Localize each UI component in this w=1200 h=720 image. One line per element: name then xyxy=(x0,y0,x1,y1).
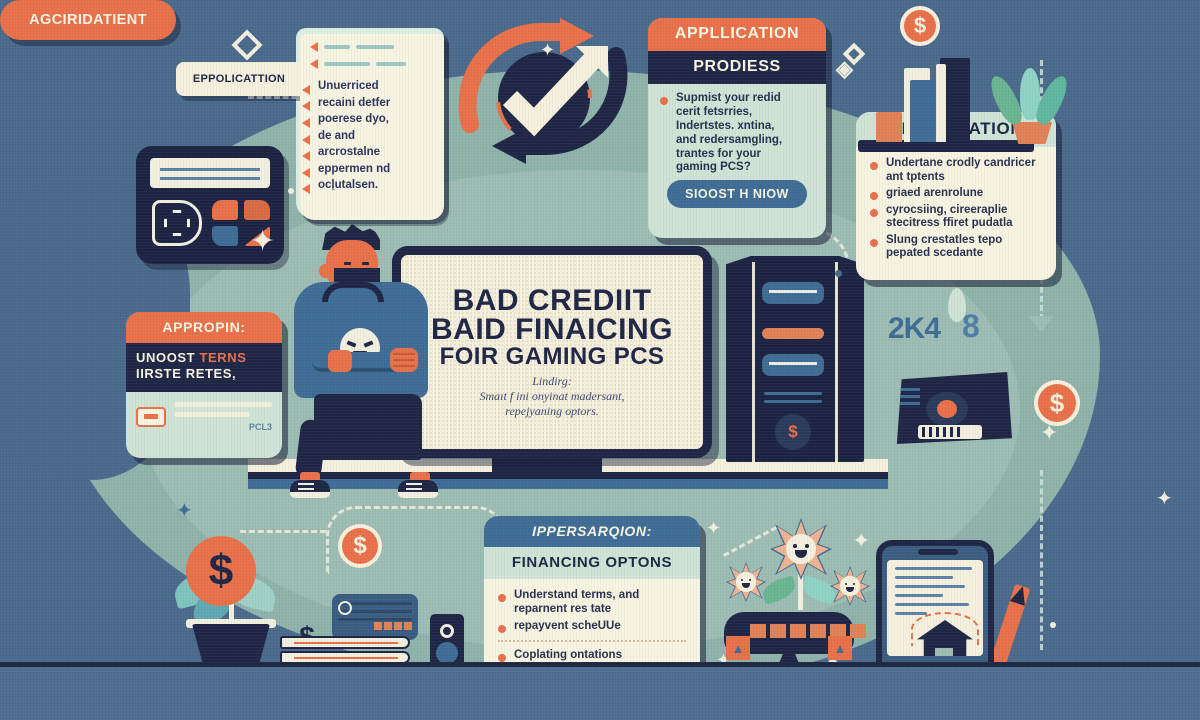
card-application-process-header-top: APPLLICATION xyxy=(648,18,826,51)
decor-glyph: ◈ xyxy=(836,56,853,82)
list-item: Unuerriced xyxy=(300,80,444,94)
pcl-label: PCL3 xyxy=(174,422,272,432)
psu-fan xyxy=(926,392,968,426)
person-legs xyxy=(314,394,422,460)
connector-line-5 xyxy=(1040,470,1043,650)
house-door xyxy=(935,648,953,656)
card-apperidation-bullets: Undertane crodly candricer ant tptents g… xyxy=(868,157,1044,261)
card-appropin-header: APPROPIN: xyxy=(126,312,282,343)
drive-bay xyxy=(762,282,824,304)
list-item: Coplating ontations xyxy=(496,649,688,663)
list-item-continuation: gaming PCS? xyxy=(658,161,816,174)
power-led-icon xyxy=(835,270,842,277)
flower-character-small-right xyxy=(830,566,870,606)
card-chip-icon xyxy=(136,407,166,427)
phone-screen xyxy=(887,560,983,656)
headline-line-1: BAD CREDIIT xyxy=(453,286,652,315)
tab-eppolication[interactable]: EPPOLICATTION xyxy=(176,62,302,96)
diamond-outline-icon xyxy=(231,29,262,60)
list-item: poerese dyo, xyxy=(300,113,444,127)
speaker-tweeter xyxy=(440,624,454,638)
appreciation-bar-chart xyxy=(876,40,1006,142)
tower-fan-dollar-icon: $ xyxy=(775,414,811,450)
boost-now-button[interactable]: SIOOST H NIOW xyxy=(667,180,807,208)
infographic-canvas: ✦ ✦ ✦ ✦ ✦ ✦ ✦ ✦ ✦ ◈ EPPOLICATTION Unuerr… xyxy=(0,0,1200,720)
list-item: repayvent scheUUe xyxy=(496,620,688,634)
bar-1 xyxy=(876,112,902,142)
headline-line-3: FOIR GAMING PCS xyxy=(440,345,665,370)
card-detail-lines: PCL3 xyxy=(174,402,272,432)
sparkle-icon: ✦ xyxy=(250,224,275,259)
power-supply-unit-icon xyxy=(892,372,1012,444)
person-sleeve-cuff xyxy=(328,350,352,372)
pc-tower: $ xyxy=(726,256,864,462)
person-shoe xyxy=(398,480,438,498)
list-item-continuation: cerit fetsrries, xyxy=(658,106,816,119)
card-application-process-header-bottom: PRODIESS xyxy=(648,51,826,84)
card-financing-header-top: IPPERSARQION: xyxy=(484,516,700,547)
triangle-bullet-icon xyxy=(310,59,318,69)
dollar-coin-icon: $ xyxy=(186,536,256,606)
list-item: recaini detfer xyxy=(300,97,444,111)
calculator-display xyxy=(150,158,270,188)
check-arrow-icon xyxy=(448,14,638,164)
list-item: Slung crestatles tepo pepated scedante xyxy=(868,234,1044,261)
person-eye xyxy=(362,262,369,265)
list-item: Understand terms, and reparnent res tate xyxy=(496,589,688,616)
monitor-screen: BAD CREDIIT BAID FINAICING FOIR GAMING P… xyxy=(392,246,712,458)
card-blocks xyxy=(374,622,412,630)
pill-agciridatient-label: AGCIRIDATIENT xyxy=(29,12,147,28)
flower-face xyxy=(736,572,755,591)
card-application-process[interactable]: APPLLICATION PRODIESS Supmist your redid… xyxy=(648,18,826,238)
psu-grill xyxy=(918,425,982,439)
plant-pot xyxy=(1012,122,1052,144)
flower-characters-group xyxy=(726,514,876,624)
drive-bay xyxy=(762,354,824,376)
subhead-line-2: repejyaning optors. xyxy=(480,404,625,419)
list-item: griaed arenrolune xyxy=(868,187,1044,201)
list-item: de and xyxy=(300,130,444,144)
desk-shadow xyxy=(248,479,888,489)
subhead-label: Lindirg: xyxy=(480,374,625,389)
divider xyxy=(498,640,686,642)
gamepad-right-pad: ▲ xyxy=(828,636,852,660)
card-financing-header-bottom: FINANCING OPTONS xyxy=(484,547,700,579)
flower-face xyxy=(840,576,859,595)
card-application-process-bullets: Supmist your redid cerit fetsrries, Inde… xyxy=(658,92,816,174)
list-item: arcrostalne xyxy=(300,146,444,160)
dot-icon xyxy=(1050,622,1056,628)
person-eye xyxy=(344,262,351,265)
gamepad-left-pad: ▲ xyxy=(726,636,750,660)
accent-bay xyxy=(762,328,824,339)
sparkle-icon: ✦ xyxy=(706,518,721,539)
person-hand xyxy=(390,348,418,372)
seated-person-illustration xyxy=(286,224,436,470)
card-financing-bullets: Understand terms, and reparnent res tate… xyxy=(496,589,688,634)
bar-5 xyxy=(936,64,946,142)
subhead-line-1: Smaıt f ini onyinat madersant, xyxy=(480,389,625,404)
triangle-bullet-icon xyxy=(310,42,318,52)
person-hood xyxy=(322,282,384,302)
note-card-bullet-list: Unuerriced recaini detfer poerese dyo, d… xyxy=(300,80,444,193)
dpad-icon xyxy=(152,200,202,246)
sparkle-icon: ✦ xyxy=(1156,486,1173,511)
note-card-eppolication[interactable]: Unuerriced recaini detfer poerese dyo, d… xyxy=(300,34,444,220)
dollar-coin-icon: $ xyxy=(1034,380,1080,426)
arrow-down-icon xyxy=(1028,316,1054,332)
card-appropin-subheader: UNOOST TERNS IIRSTE RETES, xyxy=(126,343,282,392)
flower-character-small-left xyxy=(726,562,766,602)
list-item: ocļutalsen. xyxy=(300,179,444,193)
speaker-woofer xyxy=(436,642,458,664)
list-item: Undertane crodly candricer ant tptents xyxy=(868,157,1044,184)
sparkle-icon: ✦ xyxy=(540,40,555,61)
appropin-line1-a: UNOOST xyxy=(136,350,199,365)
list-item: eppermen nd xyxy=(300,163,444,177)
pill-agciridatient[interactable]: AGCIRIDATIENT xyxy=(0,0,176,40)
note-card-rule-rows xyxy=(300,34,444,80)
list-item-continuation: trantes for your xyxy=(658,148,816,161)
dollar-coin-icon: $ xyxy=(338,524,382,568)
flower-character-large xyxy=(770,518,832,580)
tab-eppolication-label: EPPOLICATTION xyxy=(193,73,285,85)
book xyxy=(280,636,410,649)
card-chip-icon xyxy=(338,601,352,615)
list-item: cyrocsiing, cireeraplie stecitress ffire… xyxy=(868,204,1044,231)
appropin-line2: IIRSTE RETES, xyxy=(136,366,236,381)
list-item: Supmist your redid xyxy=(658,92,816,105)
stat-8: 8 xyxy=(962,308,980,345)
person-shoe xyxy=(290,480,330,498)
headline-line-2: BAID FINAICING xyxy=(431,315,673,344)
card-appropin[interactable]: APPROPIN: UNOOST TERNS IIRSTE RETES, PCL… xyxy=(126,312,282,458)
card-financing-bullets-2: Coplating ontations xyxy=(496,649,688,663)
floor-band xyxy=(0,662,1200,720)
appropin-line1-b: TERNS xyxy=(199,350,246,365)
flower-face xyxy=(786,534,816,564)
list-item-continuation: and redersamgling, xyxy=(658,134,816,147)
phone-speaker-notch xyxy=(918,549,958,555)
bar-3 xyxy=(910,80,936,142)
decor-plant-top-right xyxy=(990,62,1070,144)
list-item-continuation: Indertstes. xntina, xyxy=(658,120,816,133)
credit-card-device-icon xyxy=(332,594,418,640)
stat-2k4: 2K4 xyxy=(888,312,940,346)
psu-vents xyxy=(898,388,920,405)
approved-check-badge xyxy=(448,14,638,164)
dollar-coin-icon: $ xyxy=(900,6,940,46)
person-ear xyxy=(319,264,332,278)
monitor-stand xyxy=(492,458,602,472)
dot-icon xyxy=(288,188,294,194)
